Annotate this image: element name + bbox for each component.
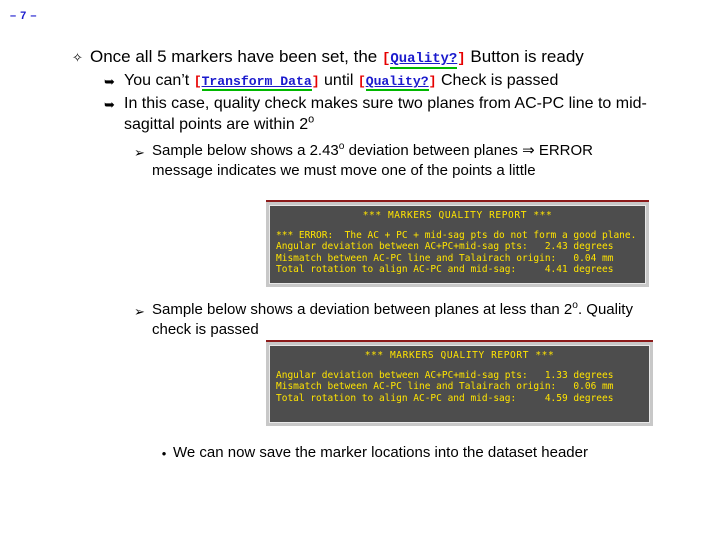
chevron-bullet-icon: ➢ [134, 141, 152, 161]
outline-item-level3-a: ➢ Sample below shows a 2.43o deviation b… [0, 141, 720, 181]
report-line-error: *** ERROR: The AC + PC + mid-sag pts do … [276, 230, 636, 241]
terminal-output-error: *** MARKERS QUALITY REPORT ****** ERROR:… [269, 205, 646, 284]
text-fragment: Button is ready [466, 47, 584, 66]
transform-data-token-label[interactable]: Transform Data [202, 74, 312, 91]
slide-outline-final: • We can now save the marker locations i… [0, 443, 720, 464]
diamond-bullet-icon: ✧ [72, 46, 90, 66]
text-fragment: Once all 5 markers have been set, the [90, 47, 382, 66]
report-title: *** MARKERS QUALITY REPORT *** [276, 210, 639, 222]
outline-item-level3-a-text: Sample below shows a 2.43o deviation bet… [152, 141, 720, 181]
report-line-angular-deviation: Angular deviation between AC+PC+mid-sag … [276, 241, 613, 252]
outline-item-level1-text: Once all 5 markers have been set, the [Q… [90, 46, 720, 68]
outline-item-level3-b-text: Sample below shows a deviation between p… [152, 300, 720, 340]
bracket-open: [ [358, 74, 366, 89]
quality-token-label[interactable]: Quality? [390, 51, 457, 69]
text-fragment: In this case, quality check makes sure t… [124, 95, 647, 133]
markers-quality-report-error-box: *** MARKERS QUALITY REPORT ****** ERROR:… [266, 200, 649, 287]
outline-item-level2-a-text: You can’t [Transform Data] until [Qualit… [124, 70, 720, 91]
bracket-open: [ [194, 74, 202, 89]
blank-line [276, 222, 639, 230]
outline-item-level2-a: ➥ You can’t [Transform Data] until [Qual… [0, 70, 720, 91]
chevron-bullet-icon: ➢ [134, 300, 152, 320]
text-fragment: Sample below shows a deviation between p… [152, 301, 572, 318]
text-fragment: You can’t [124, 72, 194, 89]
slide-outline: ✧ Once all 5 markers have been set, the … [0, 46, 720, 181]
implies-arrow-icon: ⇒ [522, 142, 535, 159]
report-line-total-rotation: Total rotation to align AC-PC and mid-sa… [276, 393, 613, 404]
bracket-close: ] [429, 74, 437, 89]
bracket-close: ] [312, 74, 320, 89]
blank-line [276, 362, 643, 370]
transform-data-token[interactable]: [Transform Data] [194, 74, 320, 91]
quality-button-token[interactable]: [Quality?] [382, 51, 466, 69]
outline-item-level3-b: ➢ Sample below shows a deviation between… [0, 300, 720, 340]
report-line-total-rotation: Total rotation to align AC-PC and mid-sa… [276, 264, 613, 275]
outline-item-level2-b-text: In this case, quality check makes sure t… [124, 93, 720, 135]
arrow-bullet-icon: ➥ [104, 70, 124, 90]
dot-bullet-icon: • [155, 443, 173, 462]
markers-quality-report-pass-box: *** MARKERS QUALITY REPORT ***Angular de… [266, 340, 653, 426]
quality-token-label-2[interactable]: Quality? [366, 74, 429, 91]
report-line-mismatch: Mismatch between AC-PC line and Talairac… [276, 381, 613, 392]
arrow-bullet-icon: ➥ [104, 93, 124, 113]
text-fragment: until [320, 72, 358, 89]
degree-symbol: o [308, 113, 314, 125]
page-number: – 7 – [10, 10, 37, 22]
outline-item-level1: ✧ Once all 5 markers have been set, the … [0, 46, 720, 68]
text-fragment: Check is passed [437, 72, 559, 89]
quality-button-token-2[interactable]: [Quality?] [358, 74, 437, 91]
terminal-output-pass: *** MARKERS QUALITY REPORT ***Angular de… [269, 345, 650, 423]
text-fragment: Sample below shows a 2.43 [152, 142, 339, 159]
bracket-close: ] [457, 51, 465, 67]
outline-item-level2-b: ➥ In this case, quality check makes sure… [0, 93, 720, 135]
slide-outline-continued: ➢ Sample below shows a deviation between… [0, 300, 720, 341]
outline-item-level4-text: We can now save the marker locations int… [173, 443, 720, 463]
outline-item-level4: • We can now save the marker locations i… [0, 443, 720, 463]
report-title: *** MARKERS QUALITY REPORT *** [276, 350, 643, 362]
report-line-angular-deviation: Angular deviation between AC+PC+mid-sag … [276, 370, 613, 381]
report-line-mismatch: Mismatch between AC-PC line and Talairac… [276, 253, 613, 264]
text-fragment: deviation between planes [344, 142, 522, 159]
